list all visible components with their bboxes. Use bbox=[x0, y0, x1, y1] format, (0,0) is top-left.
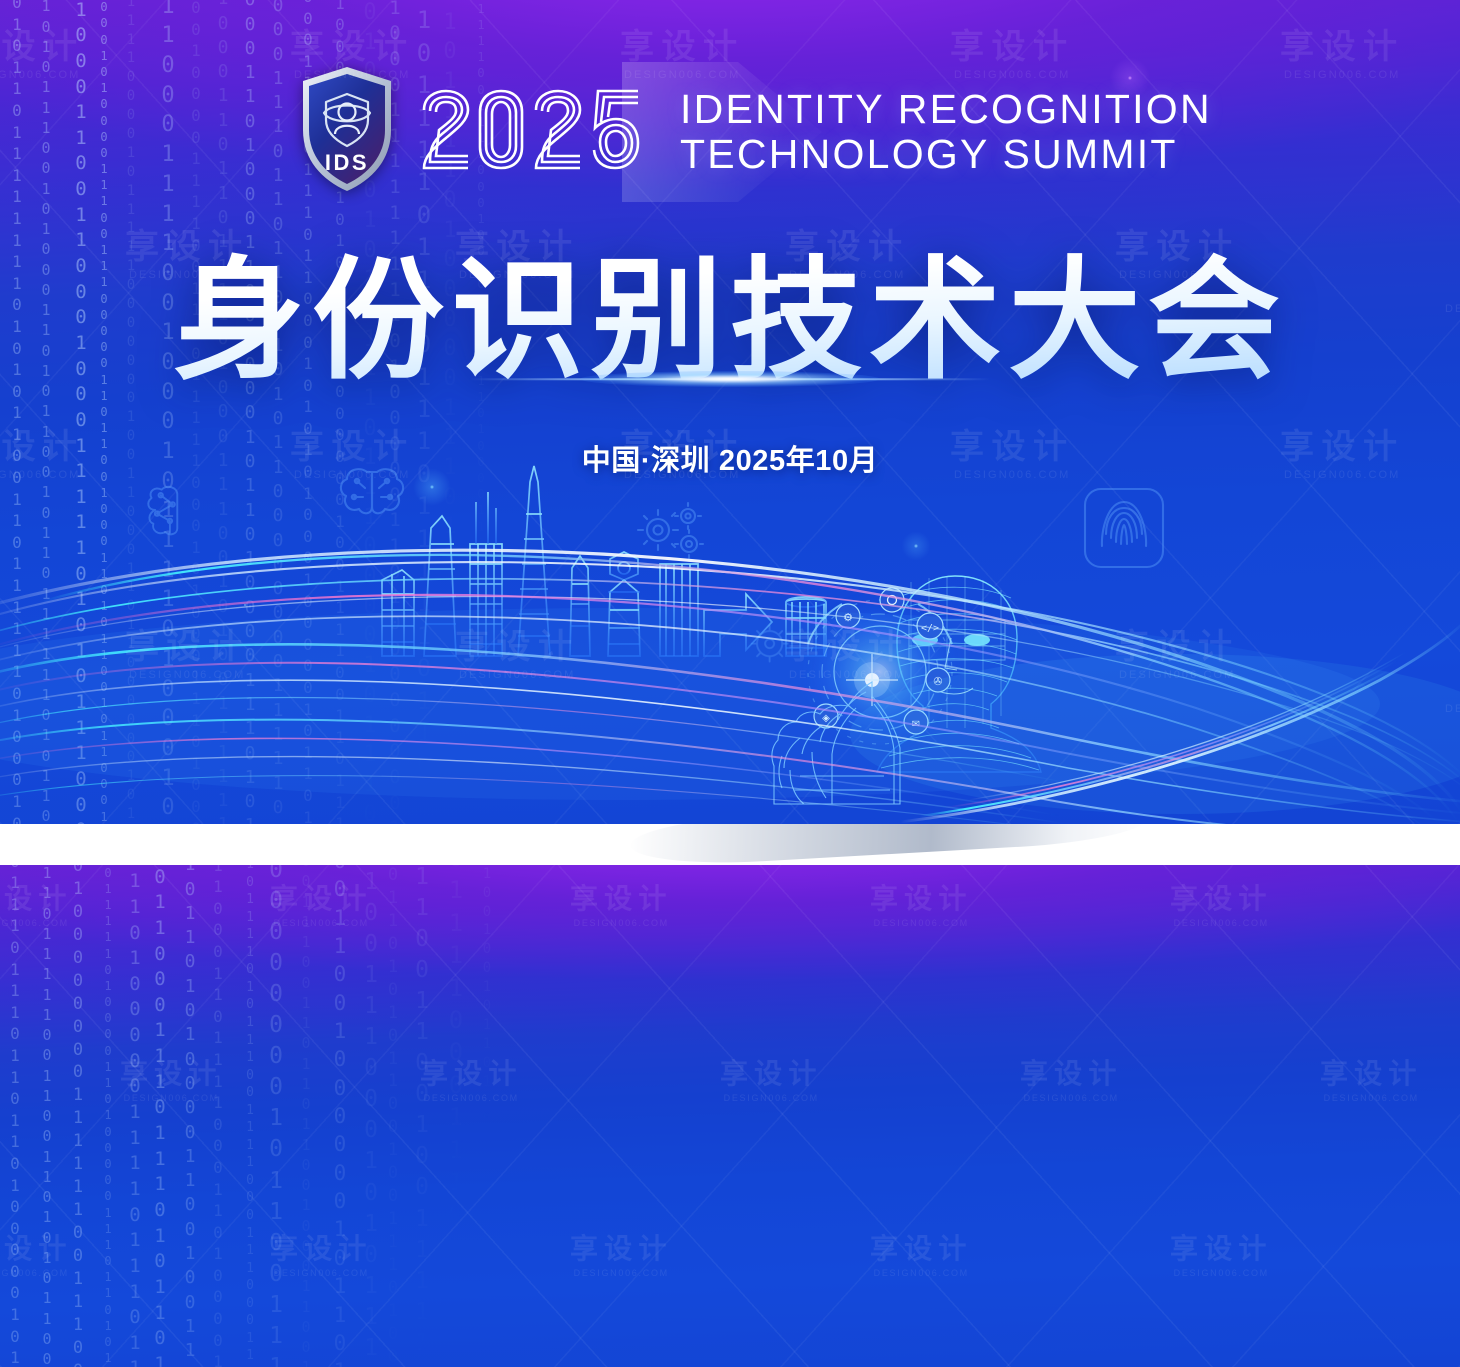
watermark: 享设计DESIGN006.COM bbox=[870, 885, 972, 928]
watermark: 享设计DESIGN006.COM bbox=[1280, 30, 1404, 81]
svg-text:</>: </> bbox=[921, 623, 939, 634]
binary-column: 1 1 1 0 1 1 1 1 1 0 1 0 0 0 0 1 1 0 1 0 … bbox=[93, 865, 123, 1367]
year-2025-numerals bbox=[418, 84, 654, 180]
watermark: 享设计DESIGN006.COM bbox=[0, 885, 72, 928]
binary-column: 1 1 0 1 1 1 1 1 0 0 1 1 0 0 1 1 0 1 0 1 … bbox=[32, 865, 62, 1367]
shenzhen-wireframe-skyline bbox=[382, 466, 826, 656]
watermark: 享设计DESIGN006.COM bbox=[120, 1060, 222, 1103]
headline-en-line1: IDENTITY RECOGNITION bbox=[680, 87, 1212, 132]
watermark: 享设计DESIGN006.COM bbox=[785, 630, 909, 681]
watermark: 享设计DESIGN006.COM bbox=[0, 1235, 72, 1278]
binary-column: 1 0 1 0 0 1 0 0 1 0 1 1 0 1 0 0 0 1 0 1 … bbox=[472, 865, 500, 1367]
svg-text:◈: ◈ bbox=[822, 713, 830, 724]
wireframe-face-scan-head bbox=[877, 576, 1041, 772]
hand-touch-hud-group: ⚙ </> ✇ ✉ ◈ bbox=[772, 588, 962, 804]
circular-hud-interface bbox=[808, 600, 952, 744]
binary-column: 0 0 1 1 0 0 0 1 1 1 0 1 1 1 0 1 0 1 1 0 … bbox=[145, 865, 175, 1367]
shield-eye-person-logo: IDS bbox=[298, 64, 396, 194]
svg-text:⚙: ⚙ bbox=[843, 611, 853, 624]
binary-column: 1 1 0 0 1 1 0 0 1 0 0 1 1 1 1 1 0 1 1 1 … bbox=[407, 865, 437, 1367]
binary-rain-pattern-b: 0 0 1 1 1 0 1 1 1 0 1 1 0 1 1 0 1 0 0 0 … bbox=[0, 865, 500, 1367]
watermark: 享设计DESIGN006.COM bbox=[570, 1235, 672, 1278]
watermark: 享设计DESIGN006.COM bbox=[1170, 1235, 1272, 1278]
watermark: 享设计DESIGN006.COM bbox=[720, 1060, 822, 1103]
binary-column: 1 1 0 0 0 1 1 0 0 1 1 0 0 0 1 0 0 0 1 1 … bbox=[66, 0, 96, 824]
event-banner-wide: 0 1 0 1 1 0 1 1 1 1 1 1 1 1 0 1 0 1 0 1 … bbox=[0, 0, 1460, 824]
binary-column: 0 1 0 1 1 0 1 1 1 1 1 1 1 1 0 1 0 1 0 1 … bbox=[2, 0, 32, 824]
watermark: 享设计DESIGN006.COM bbox=[870, 1235, 972, 1278]
watermark: 享设计DESIGN006.COM bbox=[1115, 630, 1239, 681]
ids-shield-logo: IDS bbox=[298, 64, 396, 199]
binary-column: 0 1 1 1 0 1 0 0 0 0 0 1 1 1 1 0 1 1 1 0 … bbox=[120, 865, 150, 1367]
divider-swoosh bbox=[629, 824, 1151, 865]
diagonal-mesh-pattern-b bbox=[0, 865, 1460, 1367]
event-banner-short: 0 0 1 1 1 0 1 1 1 0 1 1 0 1 1 0 1 0 0 0 … bbox=[0, 865, 1460, 1367]
watermark: 享设计DESIGN006.COM bbox=[1445, 630, 1460, 715]
svg-text:✇: ✇ bbox=[933, 675, 942, 688]
headline-english: IDENTITY RECOGNITION TECHNOLOGY SUMMIT bbox=[680, 87, 1212, 176]
wireframe-hand-touch bbox=[772, 682, 900, 804]
watermark: 享设计DESIGN006.COM bbox=[125, 630, 249, 681]
watermark: 享设计DESIGN006.COM bbox=[570, 885, 672, 928]
binary-column: 0 0 0 0 1 1 0 1 0 0 0 1 1 0 0 0 0 0 0 1 … bbox=[235, 0, 265, 824]
watermark: 享设计DESIGN006.COM bbox=[0, 30, 84, 81]
watermark: 享设计DESIGN006.COM bbox=[270, 885, 372, 928]
binary-column: 0 0 1 0 0 0 0 1 1 1 1 0 0 1 1 0 0 1 1 1 … bbox=[181, 0, 211, 824]
watermark-layer-b: 享设计DESIGN006.COM享设计DESIGN006.COM享设计DESIG… bbox=[0, 865, 1460, 1367]
binary-column: 0 1 1 0 1 0 1 0 1 1 0 0 1 0 0 1 1 1 0 1 … bbox=[378, 865, 408, 1367]
logo-mark-text: IDS bbox=[325, 150, 369, 175]
binary-column: 0 1 0 0 0 1 1 0 1 1 0 1 1 1 1 0 1 0 0 0 … bbox=[208, 0, 238, 824]
binary-column: 0 1 0 0 0 0 0 0 0 0 1 1 1 1 1 1 0 0 1 1 … bbox=[63, 865, 93, 1367]
event-subtitle: 中国·深圳 2025年10月 bbox=[0, 437, 1460, 479]
fingerprint-icon bbox=[1085, 489, 1163, 567]
binary-column: 0 0 1 1 1 0 1 1 1 0 1 1 0 1 1 0 1 0 0 0 … bbox=[0, 865, 30, 1367]
page-title: 身份识别技术大会 bbox=[0, 214, 1460, 405]
circuit-brain-icon bbox=[148, 487, 177, 535]
gears-icon bbox=[638, 503, 703, 558]
binary-column: 0 1 1 0 0 0 1 1 0 1 1 1 1 0 0 0 1 1 0 1 … bbox=[203, 865, 233, 1367]
binary-column: 0 0 1 1 1 0 0 1 1 0 1 1 0 1 1 0 0 1 0 0 … bbox=[291, 865, 321, 1367]
glowing-light-ribbon-swirl bbox=[0, 550, 1460, 824]
binary-column: 1 0 0 0 1 0 1 0 0 0 0 1 1 1 0 0 1 1 1 0 … bbox=[89, 0, 119, 824]
binary-column: 0 0 1 1 0 0 1 0 0 0 0 0 0 1 0 1 1 0 1 0 … bbox=[325, 865, 355, 1367]
hud-icon-nodes: ⚙ </> ✇ ✉ ◈ bbox=[814, 588, 950, 734]
banner-divider bbox=[0, 824, 1460, 865]
binary-column: 0 1 0 1 1 0 1 0 1 0 0 0 0 1 1 0 0 1 0 0 … bbox=[175, 865, 205, 1367]
watermark: 享设计DESIGN006.COM bbox=[1020, 1060, 1122, 1103]
bg-tech-icons bbox=[148, 469, 1362, 824]
watermark: 享设计DESIGN006.COM bbox=[420, 1060, 522, 1103]
eye-scan-chip-icon bbox=[752, 626, 788, 662]
binary-column: 1 1 0 1 0 1 1 1 0 0 1 0 1 0 0 0 1 1 0 1 … bbox=[31, 0, 61, 824]
binary-column: 0 0 0 0 0 0 0 0 0 1 0 1 1 0 0 1 1 1 0 1 … bbox=[261, 865, 291, 1367]
watermark: 享设计DESIGN006.COM bbox=[455, 630, 579, 681]
binary-column: 0 0 1 1 1 1 0 0 0 0 1 0 1 1 1 1 1 0 0 0 … bbox=[116, 0, 146, 824]
headline-en-line2: TECHNOLOGY SUMMIT bbox=[680, 132, 1212, 177]
watermark: 享设计DESIGN006.COM bbox=[1170, 885, 1272, 928]
binary-column: 1 1 1 0 0 0 1 1 1 1 0 0 1 0 0 0 1 0 1 1 … bbox=[153, 0, 183, 824]
binary-column: 0 1 0 0 1 1 1 0 0 0 1 0 1 0 1 1 1 1 1 0 … bbox=[356, 865, 386, 1367]
binary-column: 0 0 0 1 1 1 0 1 1 0 1 1 0 1 1 0 1 0 1 1 … bbox=[263, 0, 293, 824]
svg-text:✉: ✉ bbox=[912, 719, 920, 730]
watermark: 享设计DESIGN006.COM bbox=[1320, 1060, 1422, 1103]
watermark: 享设计DESIGN006.COM bbox=[270, 1235, 372, 1278]
binary-column: 1 0 1 0 1 1 1 1 0 1 0 1 1 1 0 0 1 1 1 1 … bbox=[235, 865, 265, 1367]
brand-lockup: IDS bbox=[298, 64, 1212, 199]
binary-column: 0 1 1 1 1 0 0 0 1 1 1 0 1 1 1 1 1 1 0 0 bbox=[441, 865, 471, 1367]
